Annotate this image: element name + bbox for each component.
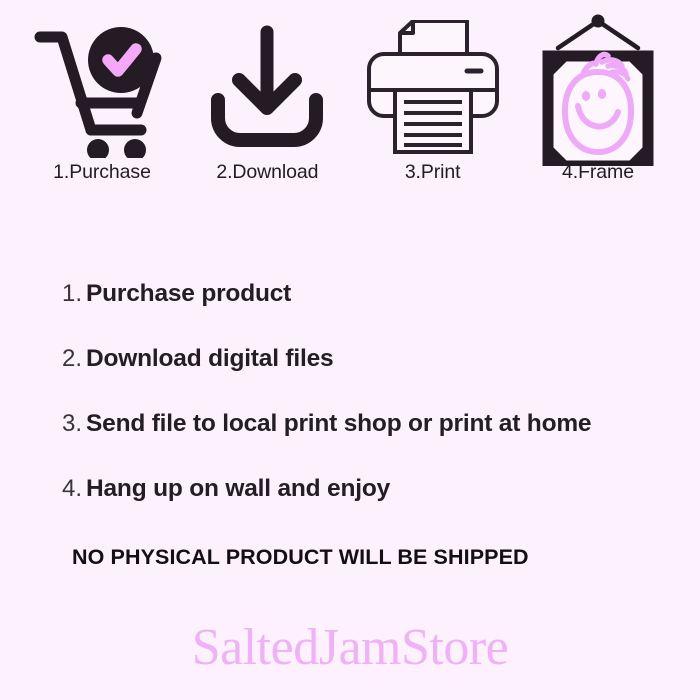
hanging-picture-frame-icon <box>536 14 660 166</box>
cart-wheel-left <box>87 139 109 158</box>
step-icon-strip: 1.Purchase 2.Download <box>0 14 700 199</box>
list-item: 1. Purchase product <box>62 280 682 345</box>
doodle-eye-right <box>598 89 606 99</box>
step-label: 4.Frame <box>562 161 634 184</box>
list-item-text: Send file to local print shop or print a… <box>86 410 591 438</box>
step-label: 3.Print <box>405 161 461 184</box>
step-item-print: 3.Print <box>357 14 509 184</box>
step-artwork <box>201 14 333 162</box>
step-artwork <box>29 14 175 162</box>
list-item-text: Download digital files <box>86 345 333 373</box>
printer-output-sheet <box>395 90 471 152</box>
list-item-number: 4. <box>62 475 82 503</box>
shopping-cart-check-icon <box>29 18 175 158</box>
list-item: 2. Download digital files <box>62 345 682 410</box>
list-item-text: Hang up on wall and enjoy <box>86 475 390 503</box>
step-item-purchase: 1.Purchase <box>26 14 178 184</box>
disclaimer-text: NO PHYSICAL PRODUCT WILL BE SHIPPED <box>72 545 529 570</box>
list-item-number: 1. <box>62 280 82 308</box>
list-item: 3. Send file to local print shop or prin… <box>62 410 682 475</box>
step-artwork <box>366 14 500 162</box>
list-item-text: Purchase product <box>86 280 291 308</box>
cart-wheel-right <box>124 139 146 158</box>
list-item-number: 3. <box>62 410 82 438</box>
list-item-number: 2. <box>62 345 82 373</box>
printer-icon <box>366 20 500 156</box>
printer-input-sheet <box>400 21 467 54</box>
step-artwork <box>536 14 660 162</box>
step-label: 1.Purchase <box>53 161 151 184</box>
listing-graphic-canvas: 1.Purchase 2.Download <box>0 0 700 700</box>
list-item: 4. Hang up on wall and enjoy <box>62 475 682 540</box>
download-arrow-icon <box>201 22 333 154</box>
step-label: 2.Download <box>216 161 318 184</box>
instruction-list: 1. Purchase product 2. Download digital … <box>62 280 682 540</box>
step-item-frame: 4.Frame <box>522 14 674 184</box>
doodle-eye-left <box>582 91 590 101</box>
step-item-download: 2.Download <box>191 14 343 184</box>
brand-wordmark: SaltedJamStore <box>0 618 700 677</box>
